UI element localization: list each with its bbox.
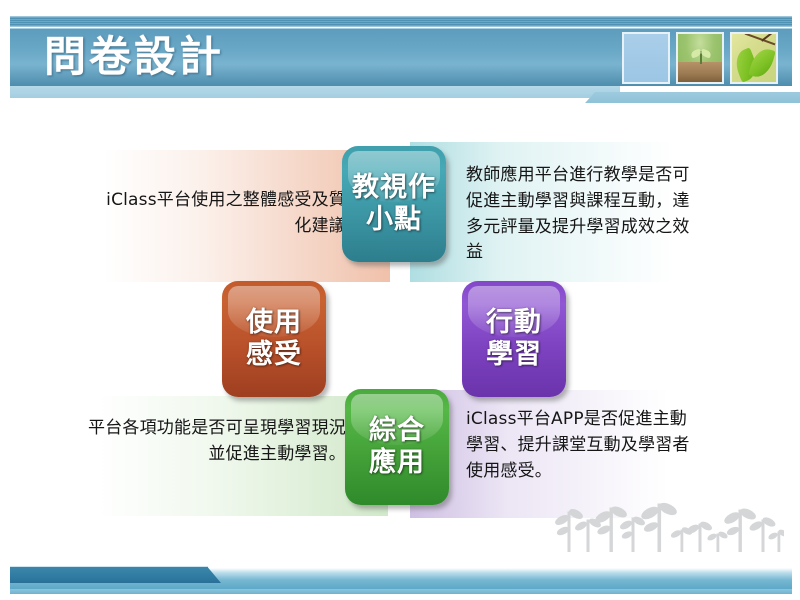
leaf-dragonfly-photo-thumbnail <box>730 32 778 84</box>
box-integrated-application-line1: 綜合 <box>369 415 425 447</box>
panel-teaching-benefit: 教師應用平台進行教學是否可促進主動學習與課程互動，達多元評量及提升學習成效之效益 <box>466 163 704 266</box>
footer-dark-bar <box>10 566 208 583</box>
sprout-leaf-right-shape <box>700 49 712 59</box>
panel-platform-functions: 平台各項功能是否可呈現學習現況並促進主動學習。 <box>88 416 346 468</box>
slide-header: 問卷設計 <box>0 0 800 104</box>
page-title: 問卷設計 <box>44 26 564 88</box>
box-usage-experience[interactable]: 使用 感受 <box>222 281 326 397</box>
sprout-silhouette-watermark <box>554 490 784 552</box>
box-mobile-learning[interactable]: 行動 學習 <box>462 281 566 397</box>
leaf-shape-b <box>748 46 775 80</box>
box-usage-experience-line1: 使用 <box>246 307 302 339</box>
panel-overall-experience: iClass平台使用之整體感受及質化建議 <box>96 188 346 240</box>
footer-bottom-line <box>10 589 792 594</box>
box-mobile-learning-line1: 行動 <box>486 307 542 339</box>
box-mobile-learning-line2: 學習 <box>486 339 542 371</box>
plain-blue-thumbnail <box>622 32 670 84</box>
header-thumbnail-strip <box>622 32 778 84</box>
slide-footer <box>0 554 800 600</box>
header-angled-band <box>585 92 800 103</box>
soil-shape <box>678 62 722 82</box>
seedling-photo-thumbnail <box>676 32 724 84</box>
slide-canvas: 問卷設計 iClass平台使用之整體感受及質化建議 教師應用平台進行教學是否可促… <box>0 0 800 600</box>
box-teaching-observation-line2: 小點 <box>366 204 422 236</box>
box-teaching-observation[interactable]: 教視作 小點 <box>342 146 446 262</box>
box-teaching-observation-line1: 教視作 <box>352 172 436 204</box>
panel-app-interaction: iClass平台APP是否促進主動學習、提升課堂互動及學習者使用感受。 <box>466 407 704 484</box>
box-integrated-application[interactable]: 綜合 應用 <box>345 389 449 505</box>
box-usage-experience-line2: 感受 <box>246 339 302 371</box>
box-integrated-application-line2: 應用 <box>369 447 425 479</box>
